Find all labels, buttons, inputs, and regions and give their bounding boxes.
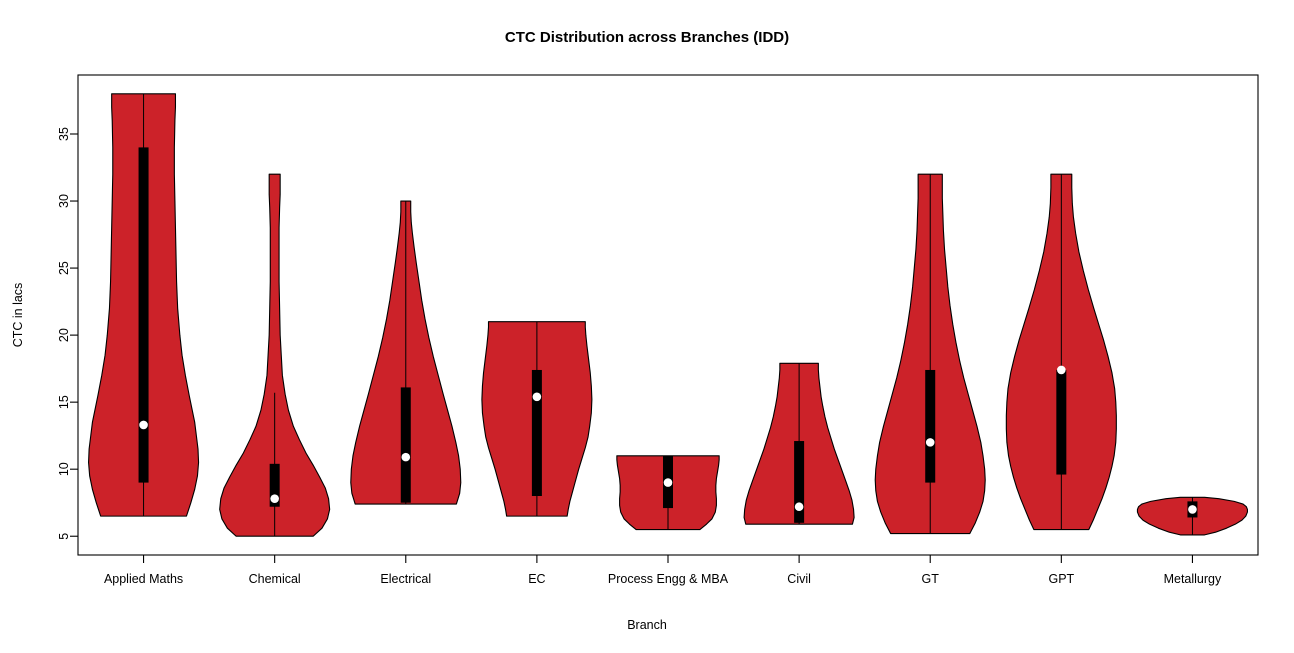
violin-chart-canvas: CTC Distribution across Branches (IDD) 5… <box>0 0 1294 653</box>
violin-median-point <box>1057 366 1066 375</box>
violin-median-point <box>139 421 148 430</box>
y-tick-label: 5 <box>57 533 71 540</box>
chart-title: CTC Distribution across Branches (IDD) <box>505 29 789 46</box>
y-tick-label: 35 <box>57 127 71 141</box>
violin-median-point <box>795 502 804 511</box>
violin-median-point <box>533 392 542 401</box>
x-tick-label: EC <box>528 572 545 586</box>
x-tick-label: Electrical <box>380 572 431 586</box>
violin-iqr-box <box>925 370 935 483</box>
y-tick-label: 25 <box>57 261 71 275</box>
x-axis-title: Branch <box>627 618 667 632</box>
violin-median-point <box>1188 505 1197 514</box>
y-axis-title: CTC in lacs <box>11 283 25 348</box>
violin-median-point <box>926 438 935 447</box>
violin-median-point <box>401 453 410 462</box>
y-tick-label: 20 <box>57 328 71 342</box>
x-tick-label: Civil <box>787 572 811 586</box>
x-tick-label: Applied Maths <box>104 572 183 586</box>
violin-iqr-box <box>401 387 411 502</box>
violin-iqr-box <box>532 370 542 496</box>
y-tick-label: 30 <box>57 194 71 208</box>
x-tick-label: Chemical <box>249 572 301 586</box>
violin-iqr-box <box>1056 370 1066 475</box>
x-tick-label: GT <box>922 572 940 586</box>
violin-iqr-box <box>139 147 149 482</box>
violin-plot-figure: CTC Distribution across Branches (IDD) 5… <box>0 0 1294 653</box>
violin-median-point <box>664 478 673 487</box>
y-tick-label: 10 <box>57 462 71 476</box>
x-tick-label: Process Engg & MBA <box>608 572 729 586</box>
violin-median-point <box>270 494 279 503</box>
x-tick-label: GPT <box>1048 572 1074 586</box>
violin-process-engg-mba <box>617 456 719 530</box>
y-tick-label: 15 <box>57 395 71 409</box>
x-tick-label: Metallurgy <box>1164 572 1222 586</box>
